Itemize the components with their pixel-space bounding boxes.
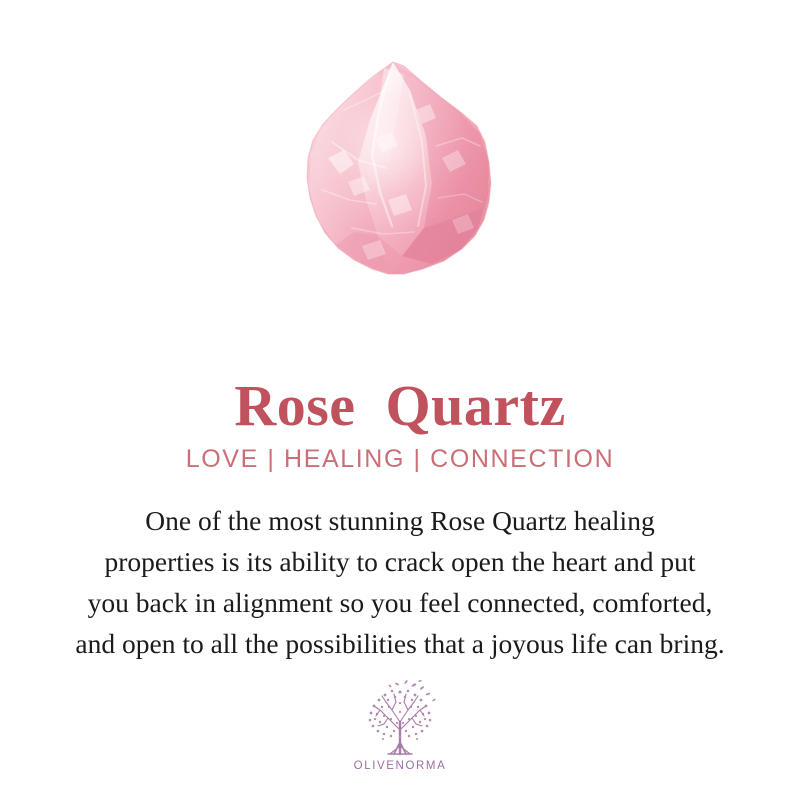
description-paragraph: One of the most stunning Rose Quartz hea… [26, 500, 774, 664]
brand-wordmark: OLIVENORMA [0, 760, 800, 772]
product-info-card: Rose Quartz LOVE | HEALING | CONNECTION … [0, 0, 800, 800]
tree-of-life-icon [354, 676, 446, 758]
description-line: you back in alignment so you feel connec… [26, 582, 774, 623]
page-title: Rose Quartz [0, 375, 800, 437]
description-line: properties is its ability to crack open … [26, 541, 774, 582]
description-line: and open to all the possibilities that a… [26, 623, 774, 664]
hero-image-area [0, 0, 800, 300]
keyword-subtitle: LOVE | HEALING | CONNECTION [0, 444, 800, 474]
rose-quartz-crystal-icon [292, 50, 512, 290]
description-line: One of the most stunning Rose Quartz hea… [26, 500, 774, 541]
brand-logo: OLIVENORMA [0, 676, 800, 772]
